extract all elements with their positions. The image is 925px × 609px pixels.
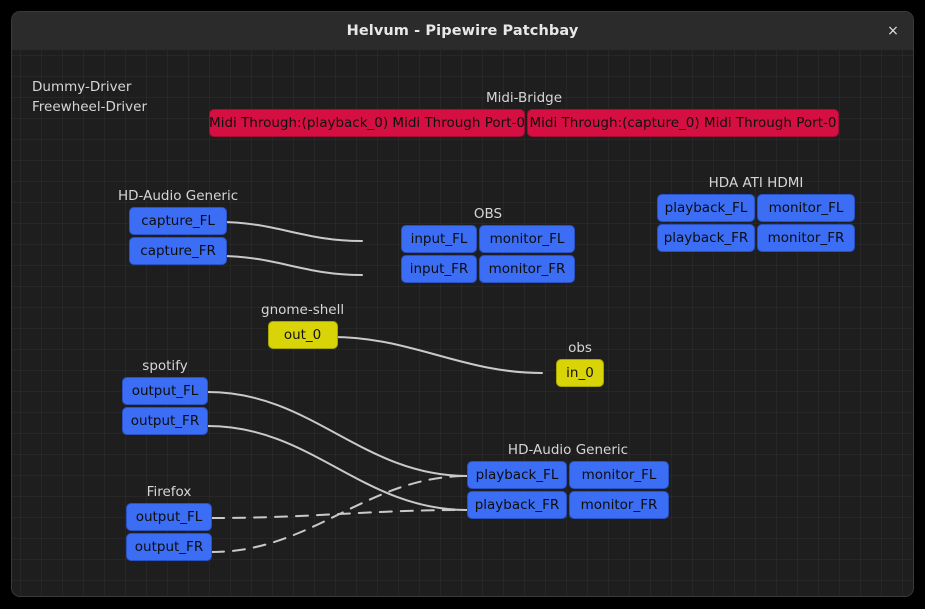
port-monitor-fr[interactable]: monitor_FR <box>569 491 669 519</box>
node-obs-midi[interactable]: obsin_0 <box>556 340 604 387</box>
port-in-0[interactable]: in_0 <box>556 359 604 387</box>
port-playback-fl[interactable]: playback_FL <box>657 194 755 222</box>
port-input-fr[interactable]: input_FR <box>401 255 477 283</box>
node-title-midi-bridge: Midi-Bridge <box>486 90 562 106</box>
port-monitor-fl[interactable]: monitor_FL <box>569 461 669 489</box>
window-title: Helvum - Pipewire Patchbay <box>347 23 579 39</box>
port-out-0[interactable]: out_0 <box>268 321 338 349</box>
port-monitor-fr[interactable]: monitor_FR <box>757 224 855 252</box>
node-title-gnome-shell: gnome-shell <box>261 302 344 318</box>
port-playback-fr[interactable]: playback_FR <box>467 491 567 519</box>
driver-label-dummy: Dummy-Driver <box>32 78 147 98</box>
node-title-firefox: Firefox <box>147 484 192 500</box>
node-hd-audio-generic-playback[interactable]: HD-Audio Genericplayback_FLmonitor_FLpla… <box>467 442 669 519</box>
port-row: output_FL <box>122 377 208 405</box>
port-output-fr[interactable]: output_FR <box>126 533 212 561</box>
port-row: output_FR <box>126 533 212 561</box>
port-grid: capture_FLcapture_FR <box>129 207 227 265</box>
port-monitor-fl[interactable]: monitor_FL <box>479 225 575 253</box>
node-hda-ati-hdmi[interactable]: HDA ATI HDMIplayback_FLmonitor_FLplaybac… <box>657 175 855 252</box>
driver-label-group: Dummy-Driver Freewheel-Driver <box>32 78 147 117</box>
port-row: playback_FRmonitor_FR <box>657 224 855 252</box>
port-row: input_FLmonitor_FL <box>401 225 575 253</box>
port-row: input_FRmonitor_FR <box>401 255 575 283</box>
close-icon[interactable]: × <box>881 19 905 43</box>
link-firefox-fl-playback-fr[interactable] <box>212 510 467 518</box>
app-window: Helvum - Pipewire Patchbay × Dummy-Drive… <box>12 12 913 596</box>
port-row: capture_FR <box>129 237 227 265</box>
port-capture-fr[interactable]: capture_FR <box>129 237 227 265</box>
port-input-fl[interactable]: input_FL <box>401 225 477 253</box>
port-grid: playback_FLmonitor_FLplayback_FRmonitor_… <box>467 461 669 519</box>
port-output-fl[interactable]: output_FL <box>126 503 212 531</box>
port-capture-fl[interactable]: capture_FL <box>129 207 227 235</box>
link-firefox-fr-playback-fl[interactable] <box>212 476 467 552</box>
port-midi-through-playback-0-midi-through-port-0[interactable]: Midi Through:(playback_0) Midi Through P… <box>209 109 525 137</box>
node-title-spotify: spotify <box>142 358 187 374</box>
driver-label-freewheel: Freewheel-Driver <box>32 98 147 118</box>
node-obs-node[interactable]: OBSinput_FLmonitor_FLinput_FRmonitor_FR <box>401 206 575 283</box>
port-playback-fl[interactable]: playback_FL <box>467 461 567 489</box>
port-grid: playback_FLmonitor_FLplayback_FRmonitor_… <box>657 194 855 252</box>
node-title-obs-midi: obs <box>568 340 592 356</box>
port-grid: Midi Through:(playback_0) Midi Through P… <box>209 109 839 137</box>
node-title-hd-audio-generic-playback: HD-Audio Generic <box>508 442 628 458</box>
port-row: in_0 <box>556 359 604 387</box>
port-grid: output_FLoutput_FR <box>122 377 208 435</box>
port-row: playback_FLmonitor_FL <box>467 461 669 489</box>
port-midi-through-capture-0-midi-through-port-0[interactable]: Midi Through:(capture_0) Midi Through Po… <box>527 109 839 137</box>
port-grid: input_FLmonitor_FLinput_FRmonitor_FR <box>401 225 575 283</box>
graph-canvas[interactable]: Dummy-Driver Freewheel-Driver Midi-Bridg… <box>12 50 913 596</box>
node-spotify[interactable]: spotifyoutput_FLoutput_FR <box>122 358 208 435</box>
link-spotify-fl-playback-fl[interactable] <box>208 392 467 476</box>
node-firefox[interactable]: Firefoxoutput_FLoutput_FR <box>126 484 212 561</box>
port-row: Midi Through:(playback_0) Midi Through P… <box>209 109 839 137</box>
node-title-hd-audio-generic-capture: HD-Audio Generic <box>118 188 238 204</box>
port-row: output_FR <box>122 407 208 435</box>
port-row: playback_FLmonitor_FL <box>657 194 855 222</box>
link-gnome-out0-obs-in0[interactable] <box>332 337 542 373</box>
port-grid: in_0 <box>556 359 604 387</box>
port-grid: out_0 <box>268 321 338 349</box>
port-row: output_FL <box>126 503 212 531</box>
node-title-obs-node: OBS <box>474 206 502 222</box>
port-output-fl[interactable]: output_FL <box>122 377 208 405</box>
node-hd-audio-generic-capture[interactable]: HD-Audio Genericcapture_FLcapture_FR <box>118 188 238 265</box>
port-monitor-fr[interactable]: monitor_FR <box>479 255 575 283</box>
port-row: playback_FRmonitor_FR <box>467 491 669 519</box>
title-bar: Helvum - Pipewire Patchbay × <box>12 12 913 51</box>
node-midi-bridge[interactable]: Midi-BridgeMidi Through:(playback_0) Mid… <box>209 90 839 137</box>
port-output-fr[interactable]: output_FR <box>122 407 208 435</box>
link-spotify-fr-playback-fr[interactable] <box>208 426 467 510</box>
port-row: out_0 <box>268 321 338 349</box>
port-monitor-fl[interactable]: monitor_FL <box>757 194 855 222</box>
node-gnome-shell[interactable]: gnome-shellout_0 <box>261 302 344 349</box>
port-playback-fr[interactable]: playback_FR <box>657 224 755 252</box>
link-capture-fl-obs-input-fl[interactable] <box>219 222 362 241</box>
port-row: capture_FL <box>129 207 227 235</box>
port-grid: output_FLoutput_FR <box>126 503 212 561</box>
link-capture-fr-obs-input-fr[interactable] <box>219 256 362 275</box>
node-title-hda-ati-hdmi: HDA ATI HDMI <box>709 175 804 191</box>
